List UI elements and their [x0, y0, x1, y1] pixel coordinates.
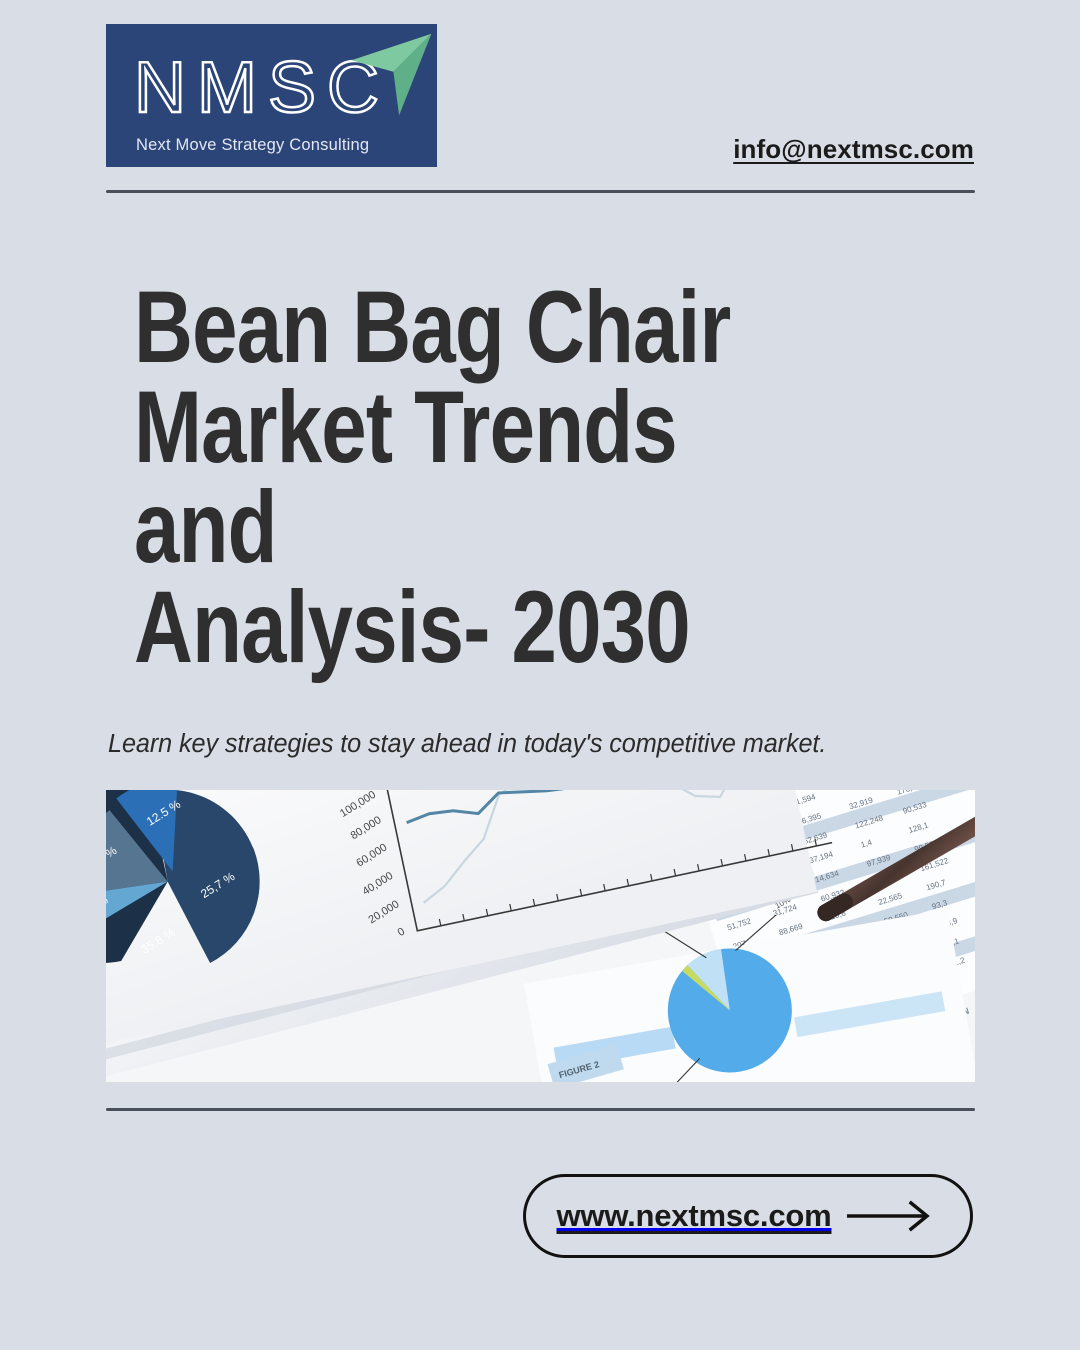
arrow-right-icon: [847, 1200, 939, 1232]
divider-top: [106, 190, 975, 193]
page-title: Bean Bag Chair Market Trends and Analysi…: [134, 278, 798, 678]
nmsc-logo[interactable]: NMSC Next Move Strategy Consulting: [106, 24, 437, 167]
logo-tagline: Next Move Strategy Consulting: [136, 136, 369, 155]
report-photo: 2,64944,17011,0564,9699,123 1,09626,2294…: [106, 790, 975, 1082]
website-cta-button[interactable]: www.nextmsc.com: [523, 1174, 973, 1258]
poster-page: NMSC Next Move Strategy Consulting info@…: [0, 0, 1080, 1350]
divider-bottom: [106, 1108, 975, 1111]
website-url-label: www.nextmsc.com: [557, 1198, 832, 1234]
page-subtitle: Learn key strategies to stay ahead in to…: [108, 730, 979, 759]
contact-email-link[interactable]: info@nextmsc.com: [733, 134, 974, 165]
paper-plane-arrow-icon: [344, 28, 437, 123]
